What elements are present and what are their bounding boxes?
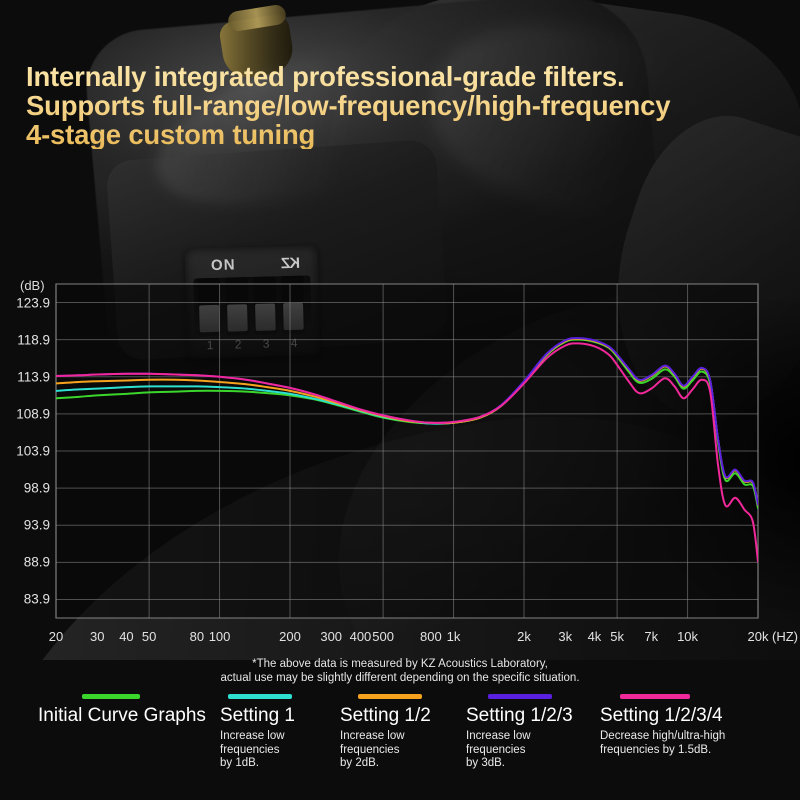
y-tick-98.9: 98.9	[24, 481, 50, 496]
x-tick-80: 80	[190, 629, 204, 644]
x-axis-tick-labels: 20304050801002003004005008001k2k3k4k5k7k…	[0, 629, 800, 649]
chart-legend: Initial Curve GraphsSetting 1Increase lo…	[0, 694, 800, 794]
y-tick-93.9: 93.9	[24, 518, 50, 533]
legend-swatch-1	[82, 694, 140, 699]
legend-label-3: Setting 1/2	[340, 705, 470, 727]
y-tick-113.9: 113.9	[17, 369, 50, 384]
y-tick-103.9: 103.9	[16, 444, 50, 459]
x-tick-2k: 2k	[517, 629, 531, 644]
x-tick-1k: 1k	[447, 629, 461, 644]
legend-desc-5: Decrease high/ultra-high frequencies by …	[600, 730, 782, 757]
x-tick-3k: 3k	[558, 629, 572, 644]
x-tick-300: 300	[320, 629, 342, 644]
legend-label-5: Setting 1/2/3/4	[600, 705, 782, 727]
legend-swatch-5	[620, 694, 690, 699]
x-tick-10k: 10k	[677, 629, 698, 644]
legend-swatch-2	[228, 694, 292, 699]
x-tick-500: 500	[372, 629, 394, 644]
legend-item-1: Initial Curve Graphs	[38, 694, 184, 727]
x-tick-800: 800	[420, 629, 442, 644]
y-tick-123.9: 123.9	[16, 295, 50, 310]
y-tick-88.9: 88.9	[24, 555, 50, 570]
x-tick-50: 50	[142, 629, 156, 644]
y-tick-118.9: 118.9	[17, 332, 50, 347]
x-tick-200: 200	[279, 629, 301, 644]
legend-desc-4: Increase low frequencies by 3dB.	[466, 730, 602, 771]
x-tick-4k: 4k	[588, 629, 602, 644]
measurement-disclaimer: *The above data is measured by KZ Acoust…	[0, 657, 800, 685]
x-axis-unit-label: (HZ)	[772, 629, 798, 644]
legend-label-4: Setting 1/2/3	[466, 705, 602, 727]
legend-swatch-4	[488, 694, 552, 699]
legend-item-4: Setting 1/2/3Increase low frequencies by…	[466, 694, 602, 771]
legend-item-2: Setting 1Increase low frequencies by 1dB…	[220, 694, 340, 771]
legend-label-1: Initial Curve Graphs	[38, 705, 184, 727]
legend-swatch-3	[358, 694, 422, 699]
x-tick-20k: 20k	[748, 629, 769, 644]
x-tick-40: 40	[119, 629, 133, 644]
x-tick-20: 20	[49, 629, 63, 644]
legend-item-5: Setting 1/2/3/4Decrease high/ultra-high …	[600, 694, 782, 757]
x-tick-100: 100	[209, 629, 231, 644]
x-tick-30: 30	[90, 629, 104, 644]
y-tick-108.9: 108.9	[16, 406, 50, 421]
x-tick-7k: 7k	[644, 629, 658, 644]
legend-desc-2: Increase low frequencies by 1dB.	[220, 730, 340, 771]
x-tick-400: 400	[350, 629, 372, 644]
y-tick-83.9: 83.9	[24, 592, 50, 607]
legend-label-2: Setting 1	[220, 705, 340, 727]
x-tick-5k: 5k	[610, 629, 624, 644]
legend-item-3: Setting 1/2Increase low frequencies by 2…	[340, 694, 470, 771]
legend-desc-3: Increase low frequencies by 2dB.	[340, 730, 470, 771]
promo-image-root: ON KZ 1 2 3 4 Internally integrated prof…	[0, 0, 800, 800]
